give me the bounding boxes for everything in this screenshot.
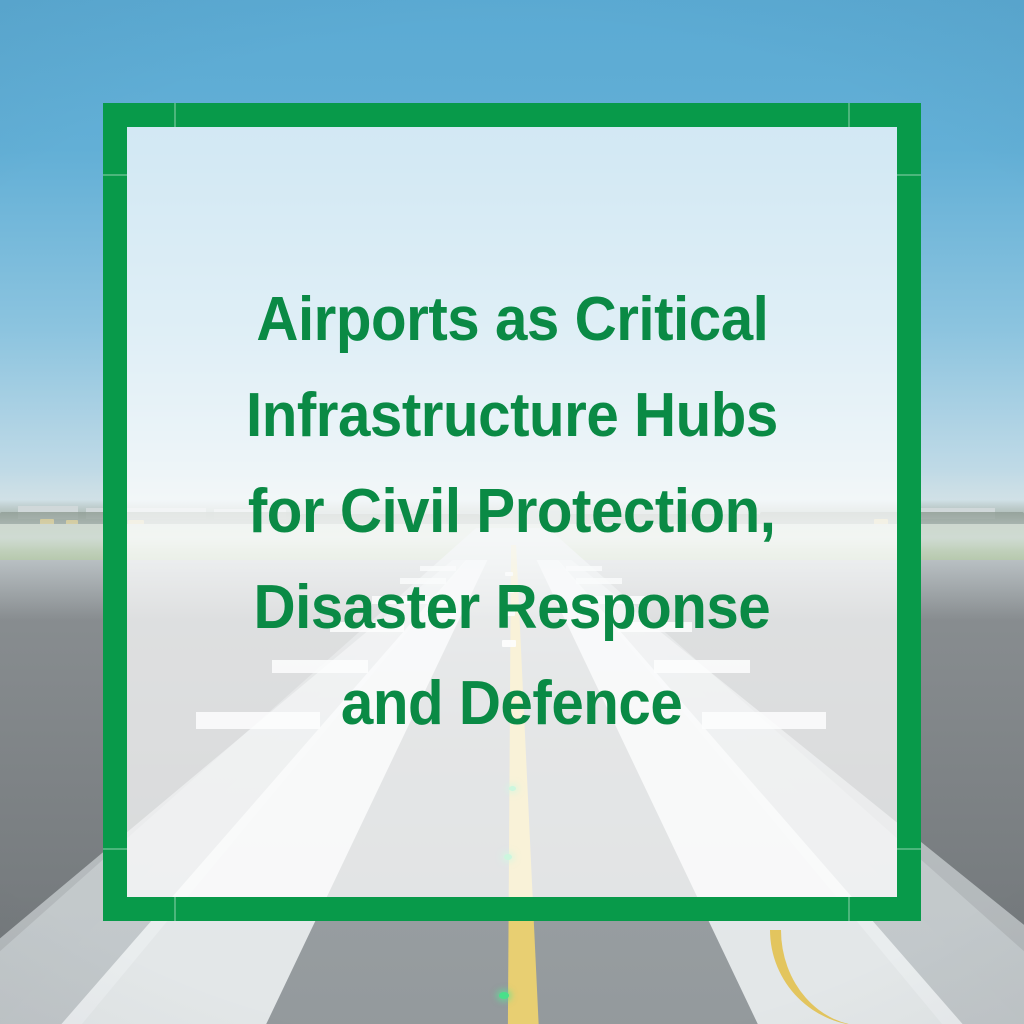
frame-corner-tick — [103, 848, 127, 850]
frame-corner-tick — [174, 897, 176, 921]
frame-corner-tick — [848, 103, 850, 127]
title-line-3: for Civil Protection, — [248, 464, 776, 560]
frame-corner-tick — [897, 848, 921, 850]
frame-corner-tick — [103, 174, 127, 176]
frame-corner-tick — [897, 174, 921, 176]
page-title: Airports as Critical Infrastructure Hubs… — [127, 127, 897, 897]
title-line-4: Disaster Response — [254, 560, 771, 656]
title-line-1: Airports as Critical — [256, 272, 768, 368]
frame-corner-tick — [848, 897, 850, 921]
title-card: Airports as Critical Infrastructure Hubs… — [0, 0, 1024, 1024]
title-line-2: Infrastructure Hubs — [246, 368, 778, 464]
frame-corner-tick — [174, 103, 176, 127]
title-line-5: and Defence — [341, 656, 682, 752]
